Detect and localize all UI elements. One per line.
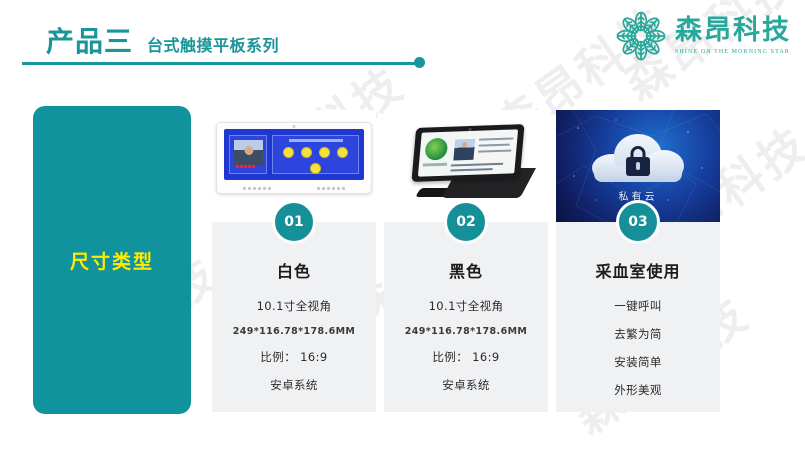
avatar [244, 146, 253, 155]
header-divider-line [22, 62, 420, 65]
emoji-rating-row [277, 147, 354, 174]
card-heading: 采血室使用 [595, 258, 680, 282]
card-spec-item: 一键呼叫 [614, 298, 662, 314]
card-spec-item: 249*116.78*178.6MM [405, 326, 528, 337]
screen-title-bar [289, 139, 343, 142]
slide-root: 产品三 台式触摸平板系列 [0, 0, 805, 454]
card-spec-item: 安卓系统 [270, 377, 318, 393]
card-heading: 白色 [277, 258, 311, 282]
id-detail-lines [478, 137, 514, 156]
camera-icon [293, 125, 296, 128]
card-spec-list: 10.1寸全视角 249*116.78*178.6MM 比例： 16:9 安卓系… [212, 292, 376, 399]
leaf-rosette-icon [613, 8, 669, 64]
card-spec-item: 安卓系统 [442, 377, 490, 393]
smiley-icon [283, 147, 294, 158]
profile-photo [234, 140, 263, 166]
brand-logo: 森昂科技 SHINE ON THE MORNING STAR [613, 8, 791, 64]
avatar [462, 142, 467, 147]
brand-logo-text: 森昂科技 SHINE ON THE MORNING STAR [675, 17, 791, 55]
id-footer-lines [450, 159, 511, 171]
smiley-icon [337, 147, 348, 158]
card-spec-item: 比例： 16:9 [260, 349, 327, 365]
card-number-badge: 03 [616, 200, 660, 244]
card-spec-list: 10.1寸全视角 249*116.78*178.6MM 比例： 16:9 安卓系… [384, 292, 548, 399]
product-card[interactable]: 私有云 03 采血室使用 一键呼叫 去繁为简 安装简单 外形美观 [556, 110, 720, 412]
speaker-grill-right-icon [317, 186, 345, 190]
org-name-bar [423, 163, 447, 167]
product-card-body: 02 黑色 10.1寸全视角 249*116.78*178.6MM 比例： 16… [384, 222, 548, 412]
brand-name: 森昂科技 [675, 17, 791, 44]
lock-icon [626, 146, 650, 176]
screen-profile-area [229, 135, 267, 174]
tablet-screen [418, 129, 518, 176]
product-card[interactable]: 02 黑色 10.1寸全视角 249*116.78*178.6MM 比例： 16… [384, 110, 548, 412]
product-card-body: 03 采血室使用 一键呼叫 去繁为简 安装简单 外形美观 [556, 222, 720, 412]
screen-rating-area [272, 135, 359, 174]
smiley-icon [319, 147, 330, 158]
card-spec-list: 一键呼叫 去繁为简 安装简单 外形美观 [556, 292, 720, 404]
card-spec-item: 外形美观 [614, 382, 662, 398]
page-title: 产品三 台式触摸平板系列 [46, 20, 279, 60]
card-spec-item: 去繁为简 [614, 326, 662, 342]
tablet-body [411, 124, 524, 182]
white-tablet-illustration [216, 122, 372, 194]
card-number-badge: 01 [272, 200, 316, 244]
tablet-screen [224, 129, 364, 180]
brand-tagline: SHINE ON THE MORNING STAR [675, 49, 791, 55]
card-spec-item: 比例： 16:9 [432, 349, 499, 365]
smiley-icon [301, 147, 312, 158]
card-spec-item: 249*116.78*178.6MM [233, 326, 356, 337]
org-emblem-icon [424, 138, 448, 161]
page-title-sub: 台式触摸平板系列 [147, 32, 279, 56]
smiley-icon [310, 163, 321, 174]
id-photo [453, 139, 475, 161]
card-spec-item: 安装简单 [614, 354, 662, 370]
cloud-icon [592, 130, 684, 182]
speaker-grill-left-icon [243, 186, 271, 190]
product-card-body: 01 白色 10.1寸全视角 249*116.78*178.6MM 比例： 16… [212, 222, 376, 412]
rating-stars-icon [236, 165, 255, 168]
card-spec-item: 10.1寸全视角 [429, 298, 504, 314]
size-type-label: 尺寸类型 [70, 247, 154, 274]
header-divider-dot-icon [414, 57, 425, 68]
page-title-main: 产品三 [46, 20, 133, 60]
card-spec-item: 10.1寸全视角 [257, 298, 332, 314]
card-heading: 黑色 [449, 258, 483, 282]
size-type-panel: 尺寸类型 [33, 106, 191, 414]
product-card[interactable]: 01 白色 10.1寸全视角 249*116.78*178.6MM 比例： 16… [212, 110, 376, 412]
card-number-badge: 02 [444, 200, 488, 244]
